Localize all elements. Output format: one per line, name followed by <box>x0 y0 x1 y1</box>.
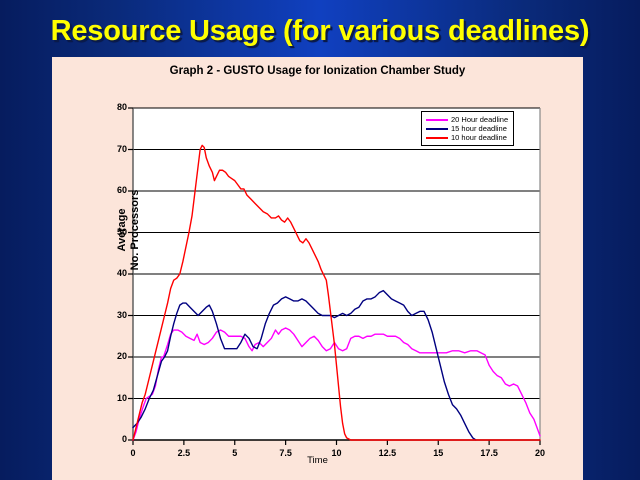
y-tick-label: 10 <box>99 393 127 403</box>
legend-item: 20 Hour deadline <box>426 115 508 124</box>
legend-swatch <box>426 137 448 139</box>
legend-swatch <box>426 119 448 121</box>
y-tick-label: 70 <box>99 144 127 154</box>
x-tick-label: 12.5 <box>372 448 402 458</box>
x-tick-label: 7.5 <box>271 448 301 458</box>
legend-label: 10 hour deadline <box>451 133 507 142</box>
y-tick-label: 0 <box>99 434 127 444</box>
y-tick-label: 20 <box>99 351 127 361</box>
legend-item: 15 hour deadline <box>426 124 508 133</box>
x-tick-label: 20 <box>525 448 555 458</box>
x-tick-label: 0 <box>118 448 148 458</box>
legend-label: 15 hour deadline <box>451 124 507 133</box>
x-tick-label: 17.5 <box>474 448 504 458</box>
y-tick-label: 50 <box>99 227 127 237</box>
legend-swatch <box>426 128 448 130</box>
y-tick-label: 40 <box>99 268 127 278</box>
y-tick-label: 60 <box>99 185 127 195</box>
y-tick-label: 80 <box>99 102 127 112</box>
x-tick-label: 5 <box>220 448 250 458</box>
y-tick-label: 30 <box>99 310 127 320</box>
legend-item: 10 hour deadline <box>426 133 508 142</box>
chart-panel: Graph 2 - GUSTO Usage for Ionization Cha… <box>52 57 583 480</box>
x-tick-label: 10 <box>322 448 352 458</box>
x-tick-label: 15 <box>423 448 453 458</box>
y-axis-title-line2: No. Processors <box>129 190 141 271</box>
legend-label: 20 Hour deadline <box>451 115 508 124</box>
slide: Resource Usage (for various deadlines) G… <box>0 0 640 480</box>
x-tick-label: 2.5 <box>169 448 199 458</box>
chart-legend: 20 Hour deadline15 hour deadline10 hour … <box>421 111 514 146</box>
page-title: Resource Usage (for various deadlines) <box>0 15 640 48</box>
